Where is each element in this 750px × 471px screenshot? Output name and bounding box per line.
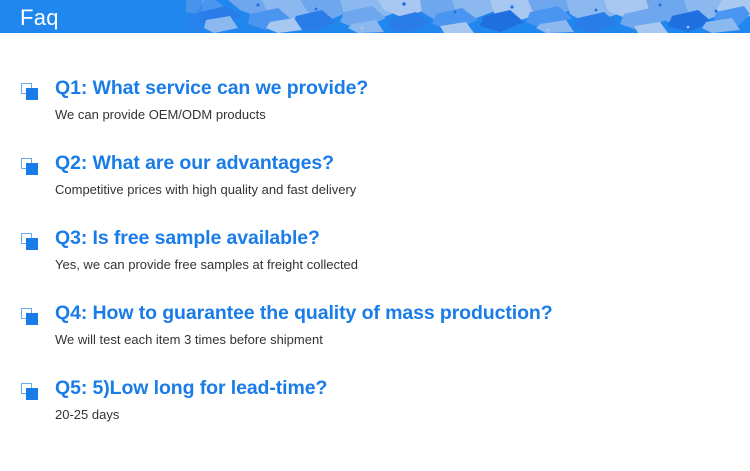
- two-squares-icon: [21, 308, 40, 327]
- faq-question: Q5: 5)Low long for lead-time?: [55, 376, 750, 400]
- faq-item-q2[interactable]: Q2: What are our advantages? Competitive…: [0, 151, 750, 226]
- faq-answer: We can provide OEM/ODM products: [55, 100, 750, 123]
- header-texture-pattern: [0, 0, 750, 33]
- faq-question: Q1: What service can we provide?: [55, 76, 750, 100]
- faq-question: Q4: How to guarantee the quality of mass…: [55, 301, 750, 325]
- faq-question: Q2: What are our advantages?: [55, 151, 750, 175]
- two-squares-icon: [21, 383, 40, 402]
- page-title: Faq: [20, 3, 59, 32]
- faq-list: Q1: What service can we provide? We can …: [0, 33, 750, 451]
- faq-answer: 20-25 days: [55, 400, 750, 423]
- faq-answer: Competitive prices with high quality and…: [55, 175, 750, 198]
- two-squares-icon: [21, 83, 40, 102]
- two-squares-icon: [21, 158, 40, 177]
- faq-item-q4[interactable]: Q4: How to guarantee the quality of mass…: [0, 301, 750, 376]
- faq-answer: Yes, we can provide free samples at frei…: [55, 250, 750, 273]
- faq-question: Q3: Is free sample available?: [55, 226, 750, 250]
- faq-answer: We will test each item 3 times before sh…: [55, 325, 750, 348]
- faq-item-q1[interactable]: Q1: What service can we provide? We can …: [0, 76, 750, 151]
- two-squares-icon: [21, 233, 40, 252]
- faq-item-q5[interactable]: Q5: 5)Low long for lead-time? 20-25 days: [0, 376, 750, 451]
- faq-item-q3[interactable]: Q3: Is free sample available? Yes, we ca…: [0, 226, 750, 301]
- faq-header-banner: Faq: [0, 0, 750, 33]
